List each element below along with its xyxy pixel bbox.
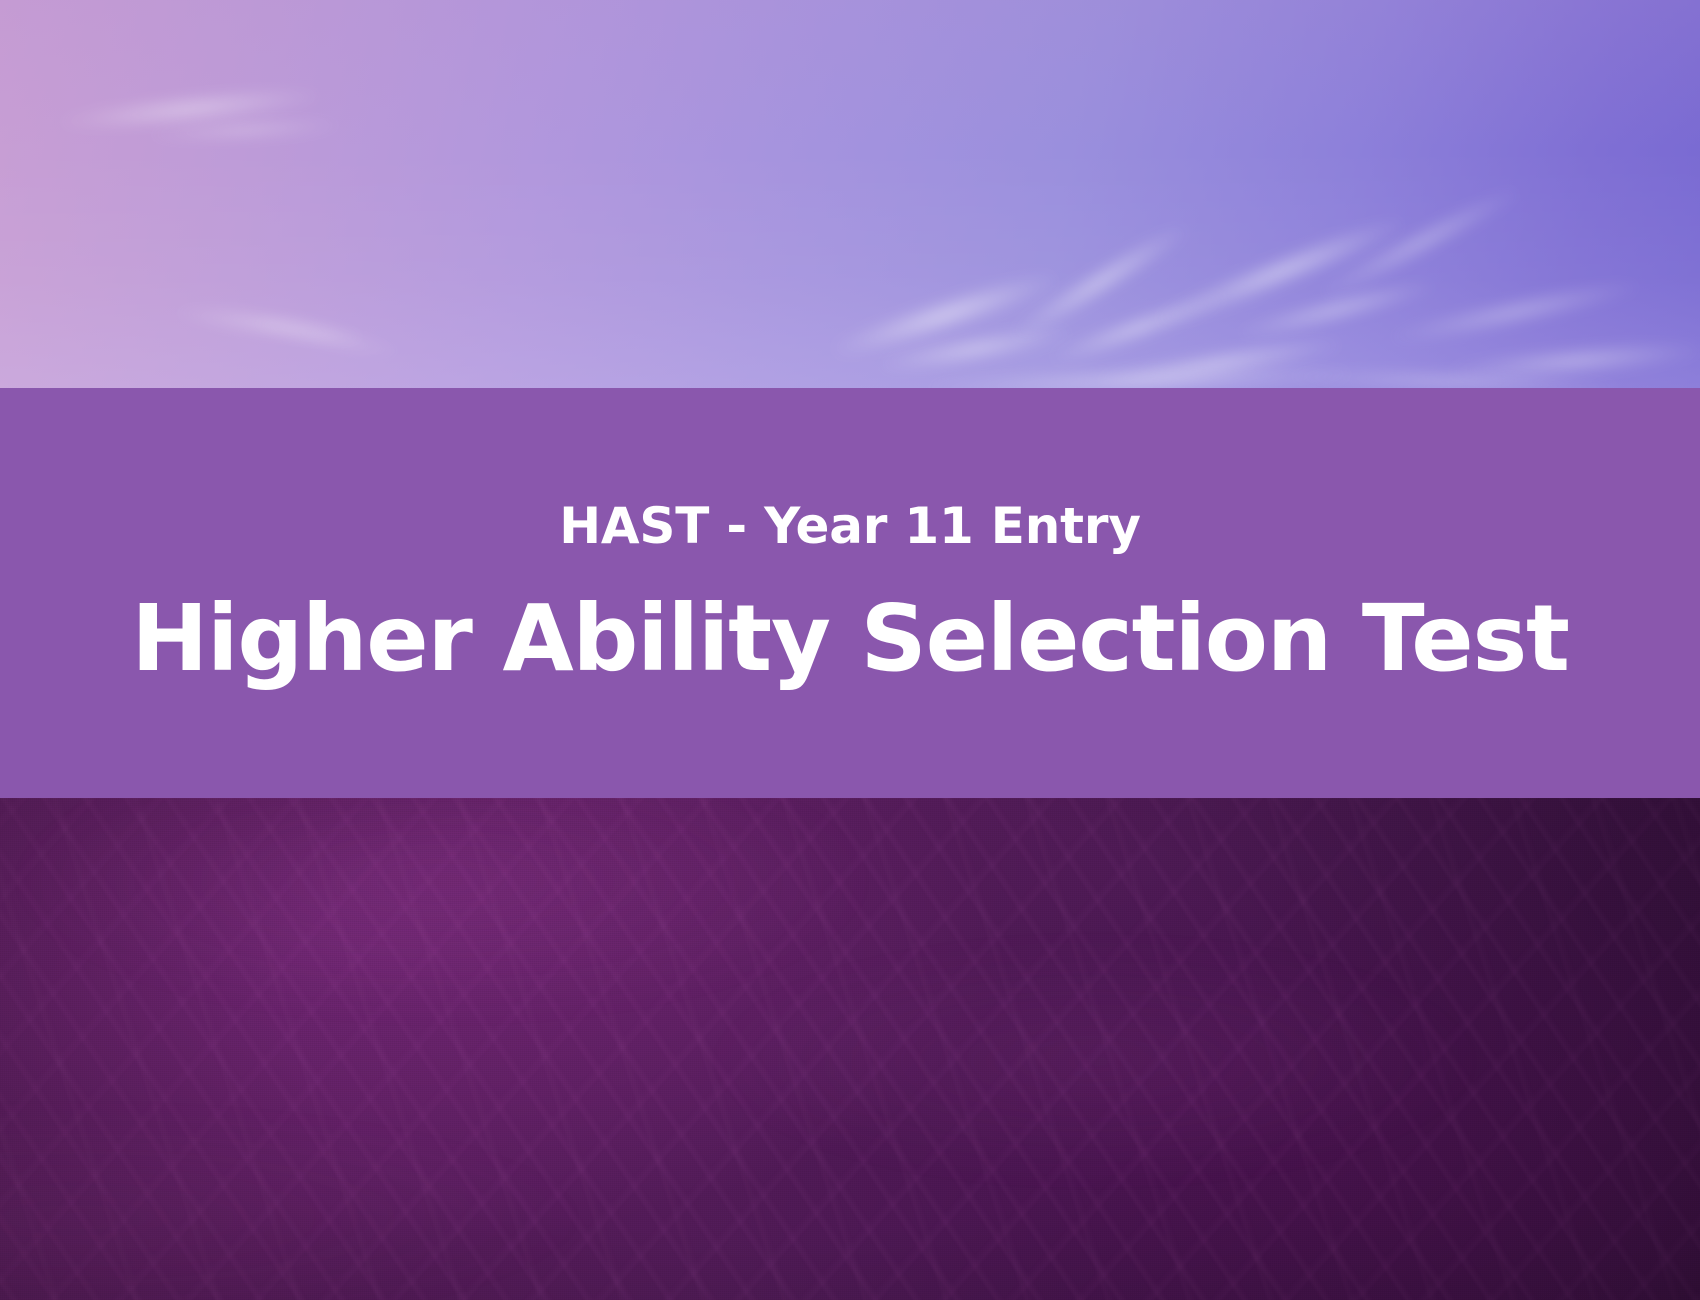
purple-title-band: HAST - Year 11 Entry Higher Ability Sele…	[0, 388, 1700, 798]
sky-background	[0, 0, 1700, 388]
hero-banner: HAST - Year 11 Entry Higher Ability Sele…	[0, 0, 1700, 1300]
chalkboard-background	[0, 798, 1700, 1300]
sky-vertical-shading	[0, 0, 1700, 388]
banner-eyebrow-text: HAST - Year 11 Entry	[559, 501, 1140, 551]
banner-page-title: Higher Ability Selection Test	[131, 593, 1569, 685]
vignette-overlay	[0, 798, 1700, 1300]
